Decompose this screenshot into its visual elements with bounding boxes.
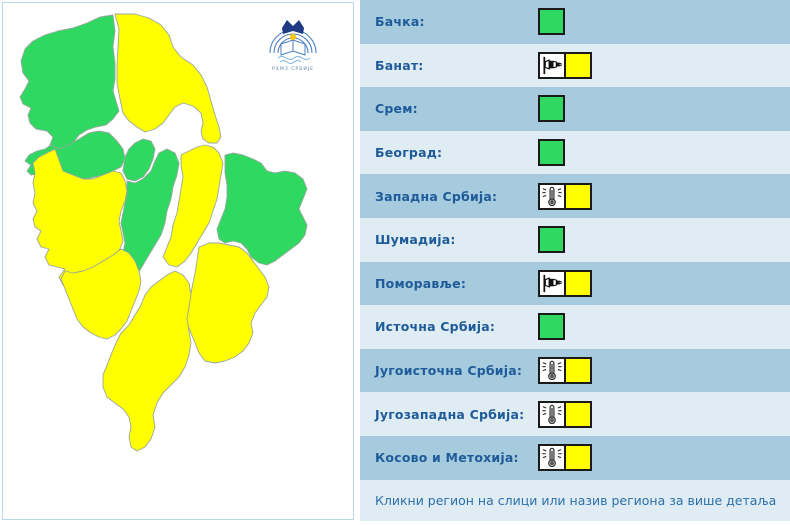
temperature-warning-pair (538, 357, 592, 384)
green-level-chip (538, 313, 565, 340)
wind-warning-icon (538, 270, 565, 297)
region-row-srem[interactable]: Срем: (360, 87, 790, 131)
region-row-pomoravlje[interactable]: Поморавље: (360, 262, 790, 306)
region-row-banat[interactable]: Банат: (360, 44, 790, 88)
region-label: Београд: (360, 145, 538, 160)
yellow-level-chip (565, 444, 592, 471)
region-row-jugozapadna-srbija[interactable]: Југозападна Србија: (360, 392, 790, 436)
region-label: Шумадија: (360, 232, 538, 247)
region-label: Бачка: (360, 14, 538, 29)
region-label: Срем: (360, 101, 538, 116)
warning-indicator[interactable] (538, 400, 592, 428)
weather-warning-page: РХМЗ СРБИЈЕ Бачка: Банат: (0, 0, 790, 525)
yellow-level-chip (565, 357, 592, 384)
temperature-warning-pair (538, 444, 592, 471)
yellow-level-chip (565, 270, 592, 297)
region-row-kosovo-metohija[interactable]: Косово и Метохија: (360, 436, 790, 480)
region-row-istocna-srbija[interactable]: Источна Србија: (360, 305, 790, 349)
warning-indicator[interactable] (538, 139, 565, 167)
green-level-chip (538, 95, 565, 122)
map-panel: РХМЗ СРБИЈЕ (0, 0, 360, 525)
map-region-backa[interactable] (20, 15, 119, 150)
green-level-chip (538, 8, 565, 35)
region-label: Источна Србија: (360, 319, 538, 334)
panel-bottom-spacer (360, 521, 790, 525)
region-row-beograd[interactable]: Београд: (360, 131, 790, 175)
warning-indicator[interactable] (538, 269, 592, 297)
warning-indicator[interactable] (538, 226, 565, 254)
map-frame: РХМЗ СРБИЈЕ (2, 2, 354, 520)
high-temperature-warning-icon (538, 444, 565, 471)
warning-indicator[interactable] (538, 51, 592, 79)
green-level-chip (538, 226, 565, 253)
yellow-level-chip (565, 52, 592, 79)
region-label: Југоисточна Србија: (360, 363, 538, 378)
temperature-warning-pair (538, 183, 592, 210)
warning-indicator[interactable] (538, 95, 565, 123)
region-list-panel: Бачка: Банат: (360, 0, 790, 525)
region-label: Западна Србија: (360, 189, 538, 204)
region-row-sumadija[interactable]: Шумадија: (360, 218, 790, 262)
temperature-warning-pair (538, 401, 592, 428)
region-label: Банат: (360, 58, 538, 73)
high-temperature-warning-icon (538, 183, 565, 210)
map-hint-bar: Кликни регион на слици или назив региона… (360, 480, 790, 521)
serbia-warning-map[interactable] (3, 3, 355, 521)
map-hint-text: Кликни регион на слици или назив региона… (360, 493, 776, 508)
region-row-zapadna-srbija[interactable]: Западна Србија: (360, 174, 790, 218)
warning-indicator[interactable] (538, 182, 592, 210)
yellow-level-chip (565, 401, 592, 428)
map-region-banat[interactable] (115, 14, 221, 143)
warning-indicator[interactable] (538, 357, 592, 385)
warning-indicator[interactable] (538, 8, 565, 36)
region-label: Косово и Метохија: (360, 450, 538, 465)
wind-warning-pair (538, 270, 592, 297)
high-temperature-warning-icon (538, 357, 565, 384)
region-label: Југозападна Србија: (360, 407, 538, 422)
high-temperature-warning-icon (538, 401, 565, 428)
warning-indicator[interactable] (538, 313, 565, 341)
rhmz-serbia-logo: РХМЗ СРБИЈЕ (265, 11, 321, 73)
logo-caption: РХМЗ СРБИЈЕ (272, 66, 314, 72)
wind-warning-icon (538, 52, 565, 79)
region-label: Поморавље: (360, 276, 538, 291)
region-row-backa[interactable]: Бачка: (360, 0, 790, 44)
yellow-level-chip (565, 183, 592, 210)
green-level-chip (538, 139, 565, 166)
region-row-jugoistocna-srbija[interactable]: Југоисточна Србија: (360, 349, 790, 393)
warning-indicator[interactable] (538, 444, 592, 472)
wind-warning-pair (538, 52, 592, 79)
